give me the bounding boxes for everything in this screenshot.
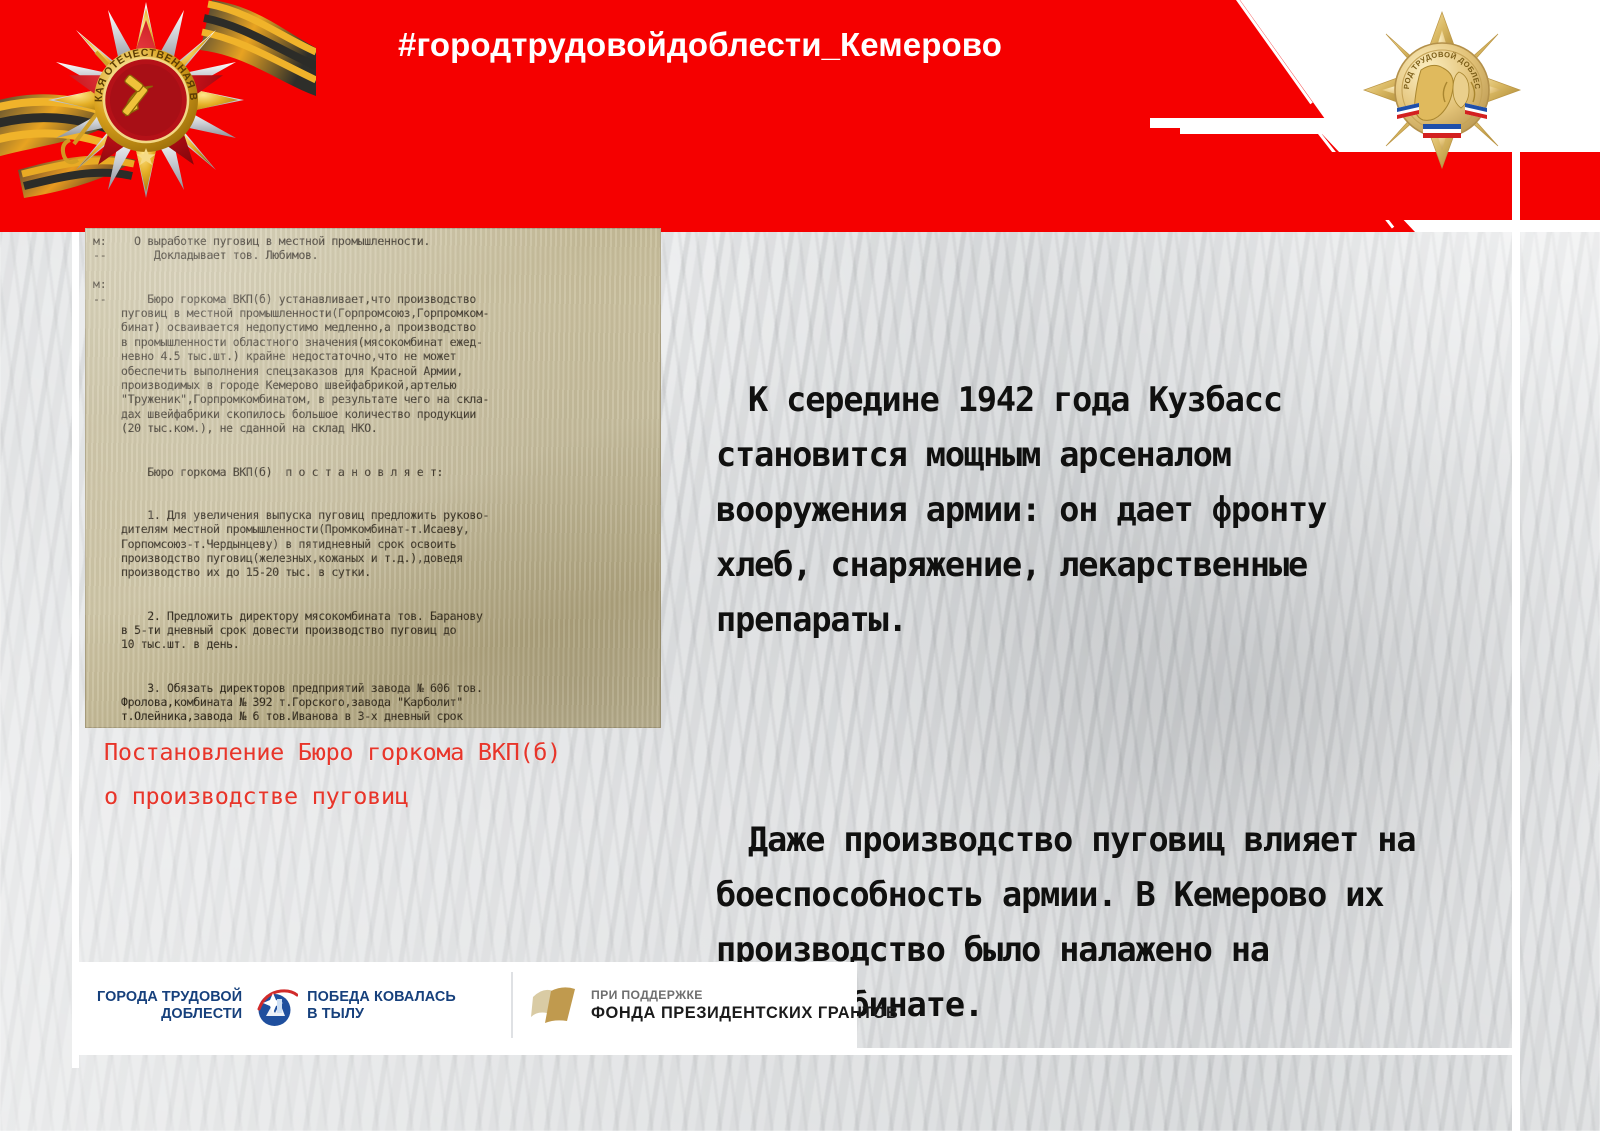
fpg-mark-icon <box>531 983 579 1027</box>
caption-line-2: о производстве пуговиц <box>104 774 704 818</box>
document-typed-text: О выработке пуговиц в местной промышленн… <box>121 234 661 728</box>
goroda-trudovoy-doblesti-logo: ГОРОДА ТРУДОВОЙ ДОБЛЕСТИ ПОБЕДА КОВАЛАСЬ… <box>97 978 497 1034</box>
city-of-labour-valour-medal-icon: ГОРОД ТРУДОВОЙ ДОБЛЕСТИ <box>1355 8 1530 173</box>
gtd-label-right: ПОБЕДА КОВАЛАСЬ В ТЫЛУ <box>307 989 456 1024</box>
order-of-patriotic-war-icon: ВЕЛИКАЯ ОТЕЧЕСТВЕННАЯ ВОЙНА <box>0 0 316 214</box>
narrative-paragraph-1: К середине 1942 года Кузбасс становится … <box>716 372 1416 647</box>
document-caption: Постановление Бюро горкома ВКП(б) о прои… <box>104 730 704 818</box>
archive-document-scan: м: -- м: -- О выработке пуговиц в местно… <box>85 228 661 728</box>
fpg-line-2: ФОНДА ПРЕЗИДЕНТСКИХ ГРАНТОВ <box>591 1003 898 1023</box>
document-margin-marks: м: -- м: -- <box>93 234 121 306</box>
caption-line-1: Постановление Бюро горкома ВКП(б) <box>104 730 704 774</box>
frame-line-left <box>72 188 79 1068</box>
footer-divider <box>511 972 513 1038</box>
hashtag-title: #городтрудовойдоблести_Кемерово <box>398 22 1298 68</box>
slide-root: #городтрудовойдоблести_Кемерово <box>0 0 1600 1131</box>
fpg-line-1: ПРИ ПОДДЕРЖКЕ <box>591 988 898 1003</box>
header-red-bar-right <box>1520 152 1600 220</box>
gtd-emblem-icon <box>251 983 298 1030</box>
gtd-label-left: ГОРОДА ТРУДОВОЙ ДОБЛЕСТИ <box>97 989 242 1024</box>
header-chevron-seam <box>1150 118 1350 128</box>
fpg-label: ПРИ ПОДДЕРЖКЕ ФОНДА ПРЕЗИДЕНТСКИХ ГРАНТО… <box>591 988 898 1023</box>
frame-line-right <box>1512 120 1520 1131</box>
footer-logo-band: ГОРОДА ТРУДОВОЙ ДОБЛЕСТИ ПОБЕДА КОВАЛАСЬ… <box>79 962 857 1048</box>
prezidentskie-granty-logo: ПРИ ПОДДЕРЖКЕ ФОНДА ПРЕЗИДЕНТСКИХ ГРАНТО… <box>531 976 851 1034</box>
